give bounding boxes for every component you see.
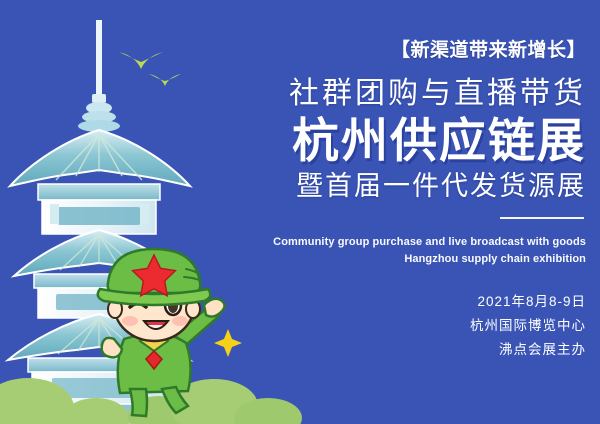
english-line-2: Hangzhou supply chain exhibition: [196, 251, 586, 268]
poster-text-block: 【新渠道带来新增长】 社群团购与直播带货 杭州供应链展 暨首届一件代发货源展 C…: [196, 40, 586, 361]
event-poster: 【新渠道带来新增长】 社群团购与直播带货 杭州供应链展 暨首届一件代发货源展 C…: [0, 0, 600, 424]
event-venue: 杭州国际博览中心: [196, 314, 586, 338]
poster-kicker: 【新渠道带来新增长】: [196, 40, 586, 63]
divider-rule: [500, 217, 584, 219]
event-date: 2021年8月8-9日: [196, 290, 586, 314]
event-organizer: 沸点会展主办: [196, 338, 586, 362]
bird-icon-small: [148, 72, 182, 88]
english-line-1: Community group purchase and live broadc…: [196, 234, 586, 251]
event-meta: 2021年8月8-9日 杭州国际博览中心 沸点会展主办: [196, 290, 586, 361]
bird-icon-large: [118, 50, 164, 72]
headline-main: 杭州供应链展: [196, 115, 586, 168]
headline-secondary: 社群团购与直播带货: [196, 77, 586, 112]
headline-tertiary: 暨首届一件代发货源展: [196, 170, 586, 202]
